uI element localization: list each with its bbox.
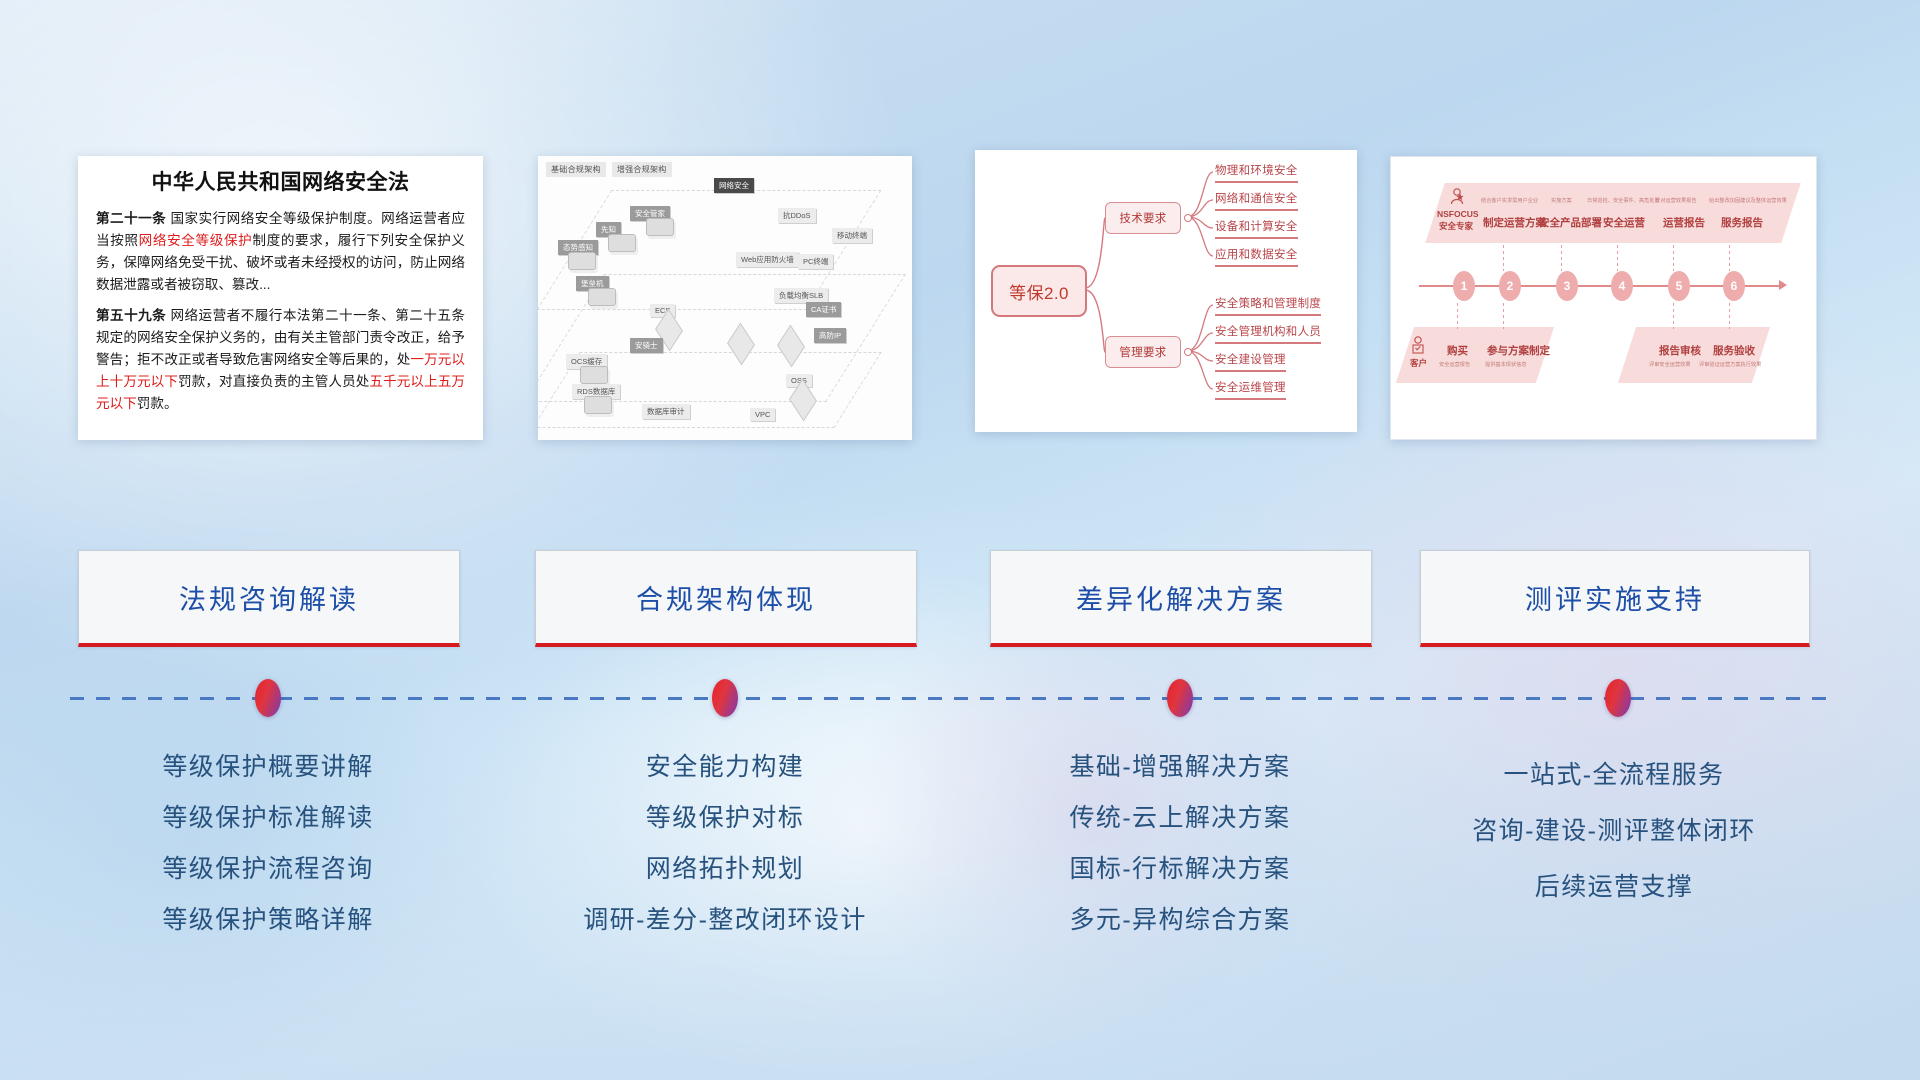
list-item: 安全能力构建 (535, 755, 915, 780)
list-item: 等级保护概要讲解 (78, 755, 458, 780)
stage-2-item-list: 安全能力构建 等级保护对标 网络拓扑规划 调研-差分-整改闭环设计 (535, 755, 915, 959)
stage-row: 法规咨询解读 合规架构体现 差异化解决方案 测评实施支持 等级保护概要讲解 等级… (0, 0, 1920, 1080)
list-item: 传统-云上解决方案 (990, 806, 1370, 831)
stage-1-title: 法规咨询解读 (179, 578, 359, 617)
timeline-marker-3 (1167, 679, 1193, 717)
list-item: 国标-行标解决方案 (990, 857, 1370, 882)
list-item: 调研-差分-整改闭环设计 (535, 908, 915, 933)
stage-4-title: 测评实施支持 (1525, 578, 1705, 617)
timeline-marker-1 (255, 679, 281, 717)
stage-2-title: 合规架构体现 (636, 578, 816, 617)
stage-3-title: 差异化解决方案 (1076, 578, 1286, 617)
list-item: 等级保护标准解读 (78, 806, 458, 831)
stage-1-item-list: 等级保护概要讲解 等级保护标准解读 等级保护流程咨询 等级保护策略详解 (78, 755, 458, 959)
list-item: 一站式-全流程服务 (1420, 763, 1808, 788)
dotted-timeline-track (70, 697, 1838, 700)
timeline-marker-4 (1605, 679, 1631, 717)
list-item: 多元-异构综合方案 (990, 908, 1370, 933)
list-item: 网络拓扑规划 (535, 857, 915, 882)
list-item: 等级保护策略详解 (78, 908, 458, 933)
stage-compliance-architecture[interactable]: 合规架构体现 (535, 550, 917, 647)
list-item: 咨询-建设-测评整体闭环 (1420, 819, 1808, 844)
list-item: 基础-增强解决方案 (990, 755, 1370, 780)
list-item: 等级保护对标 (535, 806, 915, 831)
stage-differentiated-solution[interactable]: 差异化解决方案 (990, 550, 1372, 647)
stage-4-item-list: 一站式-全流程服务 咨询-建设-测评整体闭环 后续运营支撑 (1420, 763, 1808, 931)
stage-assessment-support[interactable]: 测评实施支持 (1420, 550, 1810, 647)
list-item: 后续运营支撑 (1420, 875, 1808, 900)
timeline-marker-2 (712, 679, 738, 717)
list-item: 等级保护流程咨询 (78, 857, 458, 882)
stage-regulation-consulting[interactable]: 法规咨询解读 (78, 550, 460, 647)
stage-3-item-list: 基础-增强解决方案 传统-云上解决方案 国标-行标解决方案 多元-异构综合方案 (990, 755, 1370, 959)
